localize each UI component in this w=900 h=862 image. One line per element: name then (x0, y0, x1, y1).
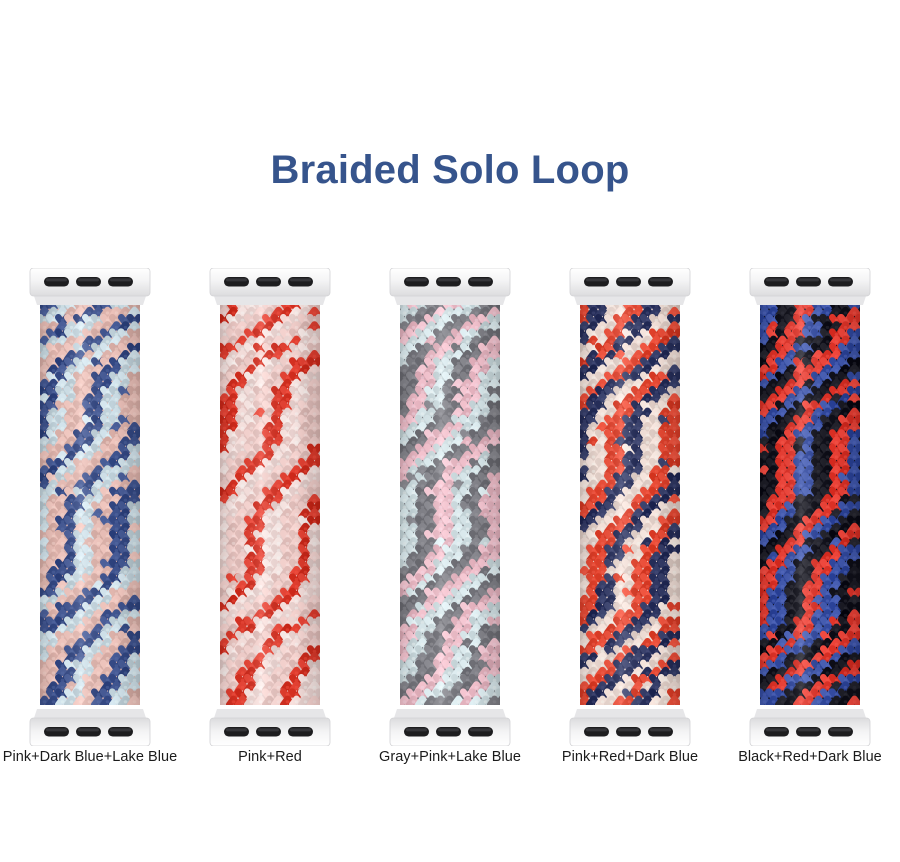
braided-band-icon[interactable] (720, 268, 900, 746)
variant-label: Pink+Dark Blue+Lake Blue (0, 749, 194, 765)
page-title: Braided Solo Loop (0, 148, 900, 193)
braided-band-icon[interactable] (180, 268, 360, 746)
product-variant-2[interactable]: Pink+Red (180, 268, 360, 758)
braided-band-icon[interactable] (0, 268, 180, 746)
product-variant-3[interactable]: Gray+Pink+Lake Blue (360, 268, 540, 758)
variant-label: Gray+Pink+Lake Blue (346, 749, 554, 765)
product-variant-1[interactable]: Pink+Dark Blue+Lake Blue (0, 268, 180, 758)
variant-label: Pink+Red+Dark Blue (526, 749, 734, 765)
variant-label: Pink+Red (166, 749, 374, 765)
braided-band-icon[interactable] (540, 268, 720, 746)
variant-label: Black+Red+Dark Blue (706, 749, 900, 765)
product-variant-row: Pink+Dark Blue+Lake BluePink+RedGray+Pin… (0, 268, 900, 758)
braided-band-icon[interactable] (360, 268, 540, 746)
product-variant-5[interactable]: Black+Red+Dark Blue (720, 268, 900, 758)
product-variant-4[interactable]: Pink+Red+Dark Blue (540, 268, 720, 758)
